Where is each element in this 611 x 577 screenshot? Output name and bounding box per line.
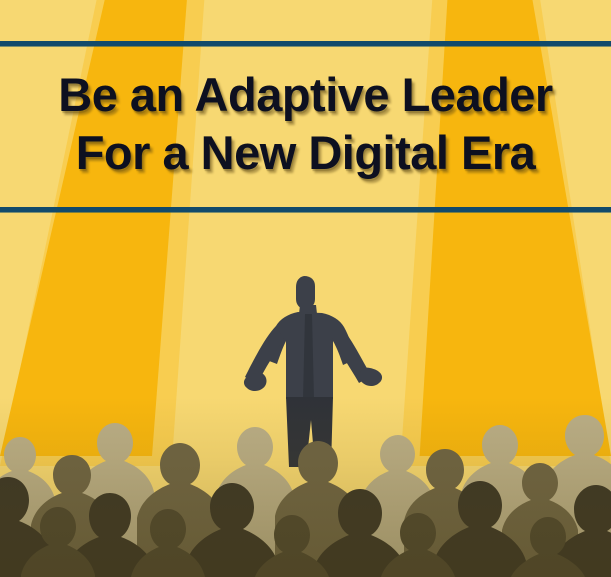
title-bottom-rule [0, 207, 611, 212]
audience-silhouettes [0, 397, 611, 577]
poster-canvas: Be an Adaptive Leader For a New Digital … [0, 0, 611, 577]
title-top-rule [0, 41, 611, 46]
